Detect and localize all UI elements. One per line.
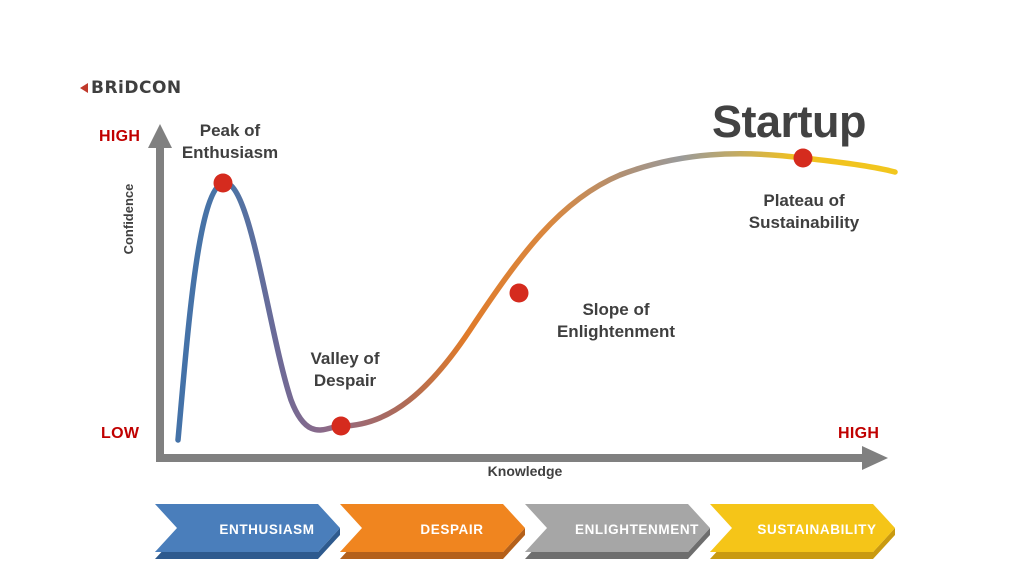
annotation-plateau-of-sustainability: Plateau of Sustainability (718, 190, 890, 234)
data-point-peak (214, 174, 233, 193)
diagram-canvas: BRiDCON Startup (0, 0, 1024, 576)
y-axis-low-label: LOW (101, 425, 139, 443)
x-axis-line (156, 454, 868, 462)
y-axis-high-label: HIGH (99, 128, 140, 146)
x-axis-high-label: HIGH (838, 425, 879, 443)
data-point-valley (332, 417, 351, 436)
hype-cycle-plot (0, 0, 1024, 576)
phase-chevron-bar: ENTHUSIASM DESPAIR ENLIGHTENMENT SUSTAIN… (155, 504, 895, 560)
x-axis-arrowhead-icon (862, 446, 888, 470)
annotation-slope-of-enlightenment: Slope of Enlightenment (528, 299, 704, 343)
data-point-plateau (794, 149, 813, 168)
annotation-peak-of-enthusiasm: Peak of Enthusiasm (160, 120, 300, 164)
annotation-valley-of-despair: Valley of Despair (275, 348, 415, 392)
data-point-slope (510, 284, 529, 303)
phase-label-enlightenment: ENLIGHTENMENT (545, 522, 729, 537)
y-axis-line (156, 144, 164, 458)
phase-label-despair: DESPAIR (362, 522, 542, 537)
phase-label-enthusiasm: ENTHUSIASM (177, 522, 357, 537)
phase-label-sustainability: SUSTAINABILITY (725, 522, 909, 537)
y-axis-title: Confidence (121, 164, 136, 274)
x-axis-title: Knowledge (440, 463, 610, 479)
